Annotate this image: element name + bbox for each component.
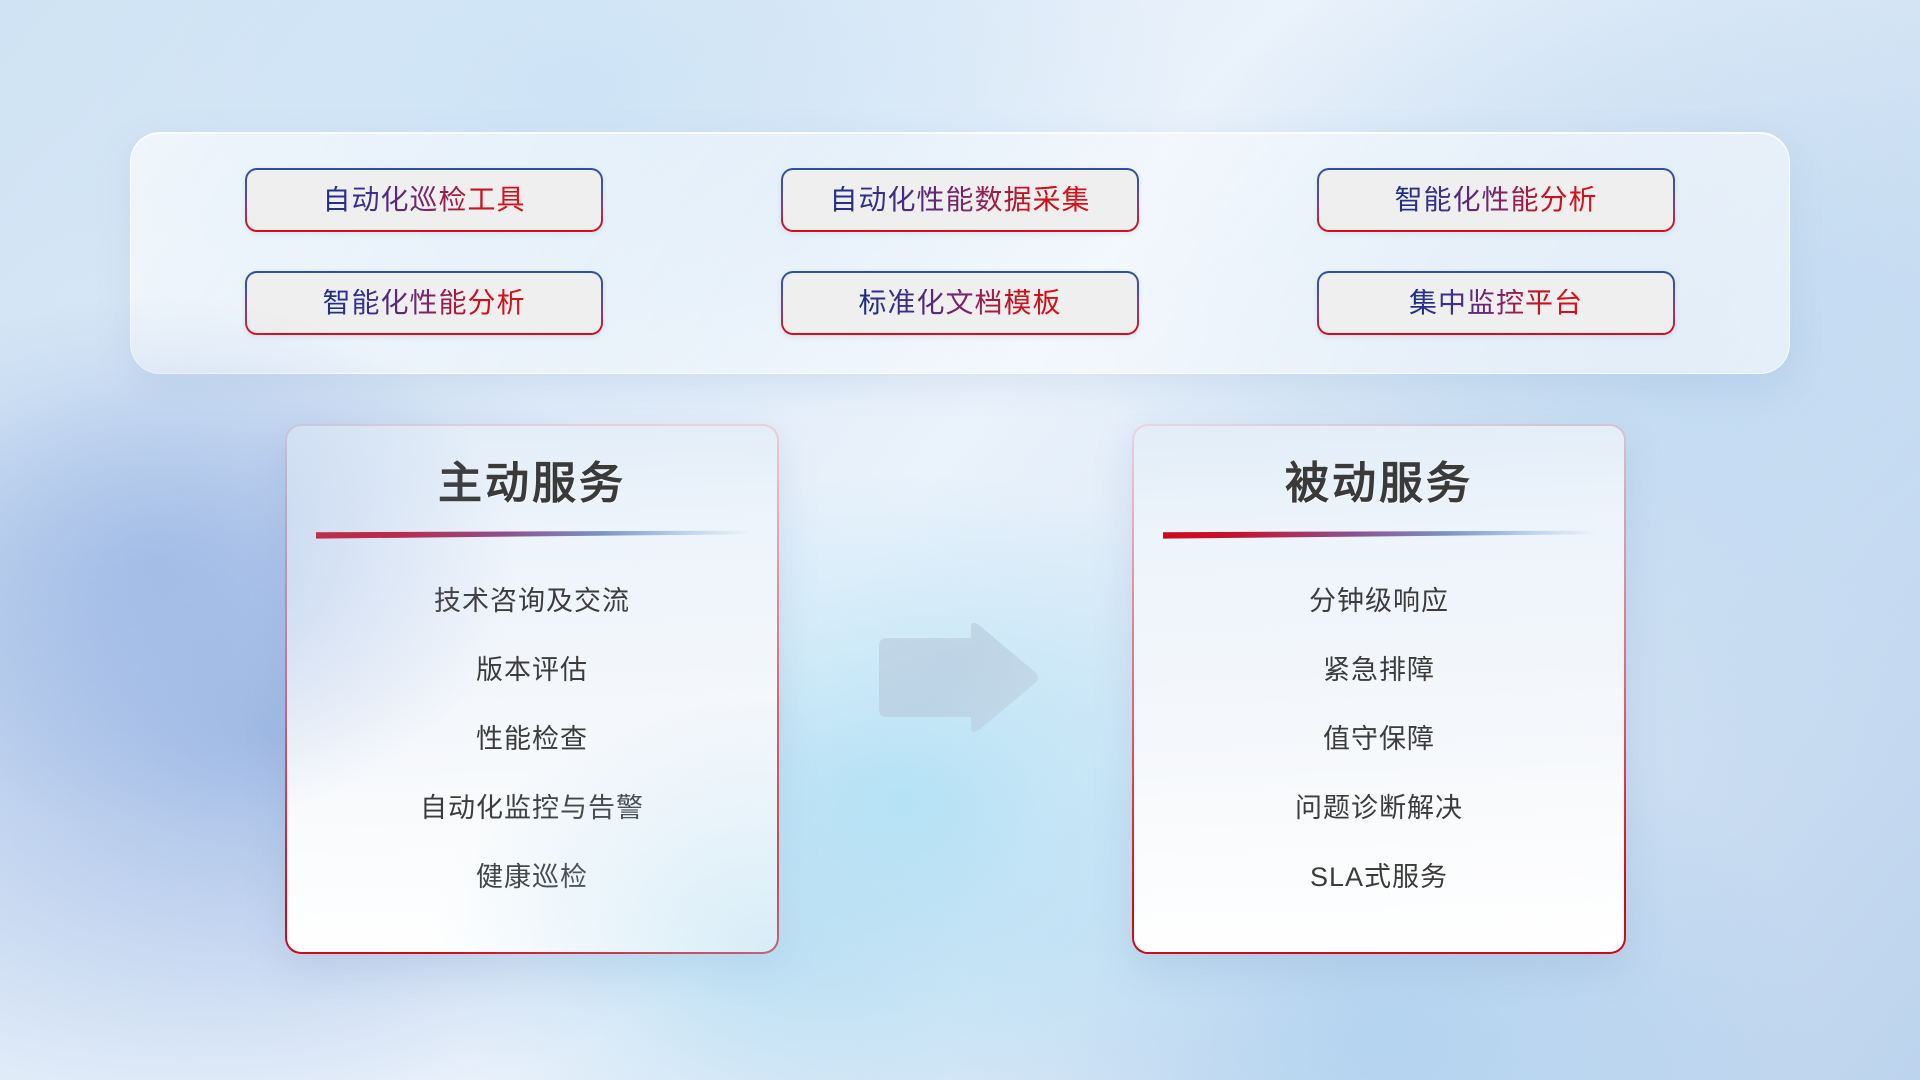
card-title-divider [1163, 530, 1595, 539]
capability-pill-label: 自动化巡检工具 [322, 186, 525, 214]
capability-pill-inner: 标准化文档模板 [783, 273, 1137, 333]
card-title-divider [316, 530, 748, 539]
capability-pill-label: 智能化性能分析 [322, 289, 525, 317]
capability-pill[interactable]: 自动化性能数据采集 [781, 168, 1139, 232]
service-card-list: 分钟级响应 紧急排障 值守保障 问题诊断解决 SLA式服务 [1164, 567, 1594, 912]
capability-pill-inner: 智能化性能分析 [1319, 170, 1673, 230]
capability-pill[interactable]: 智能化性能分析 [245, 271, 603, 335]
list-item: 值守保障 [1323, 705, 1435, 774]
capability-pill[interactable]: 自动化巡检工具 [245, 168, 603, 232]
service-card-passive: 被动服务 [1132, 424, 1626, 954]
capability-pill-label: 集中监控平台 [1409, 289, 1583, 317]
service-card-body: 被动服务 [1134, 426, 1624, 952]
service-card-body: 主动服务 [287, 426, 777, 952]
list-item: 健康巡检 [476, 843, 588, 912]
list-item: 分钟级响应 [1309, 567, 1449, 636]
capability-panel: 自动化巡检工具 自动化性能数据采集 智能化性能分析 智能化性能分析 标准化文档模… [130, 132, 1790, 374]
list-item: 技术咨询及交流 [434, 567, 630, 636]
list-item: 自动化监控与告警 [420, 774, 644, 843]
right-arrow-icon [875, 620, 1040, 735]
service-card-list: 技术咨询及交流 版本评估 性能检查 自动化监控与告警 健康巡检 [317, 567, 747, 912]
service-card-active: 主动服务 [285, 424, 779, 954]
capability-pill-inner: 集中监控平台 [1319, 273, 1673, 333]
diagram-canvas: 自动化巡检工具 自动化性能数据采集 智能化性能分析 智能化性能分析 标准化文档模… [0, 0, 1920, 1080]
list-item: 问题诊断解决 [1295, 774, 1463, 843]
service-card-title: 被动服务 [1285, 460, 1473, 508]
list-item: 性能检查 [476, 705, 588, 774]
list-item: 版本评估 [476, 636, 588, 705]
capability-pill[interactable]: 集中监控平台 [1317, 271, 1675, 335]
capability-pill[interactable]: 智能化性能分析 [1317, 168, 1675, 232]
capability-pill-inner: 自动化性能数据采集 [783, 170, 1137, 230]
capability-pill-label: 智能化性能分析 [1394, 186, 1597, 214]
capability-pill-inner: 智能化性能分析 [247, 273, 601, 333]
list-item: SLA式服务 [1310, 843, 1448, 912]
capability-pill[interactable]: 标准化文档模板 [781, 271, 1139, 335]
capability-pill-label: 标准化文档模板 [858, 289, 1061, 317]
capability-pill-inner: 自动化巡检工具 [247, 170, 601, 230]
capability-pill-label: 自动化性能数据采集 [829, 186, 1090, 214]
service-card-title: 主动服务 [438, 460, 626, 508]
list-item: 紧急排障 [1323, 636, 1435, 705]
